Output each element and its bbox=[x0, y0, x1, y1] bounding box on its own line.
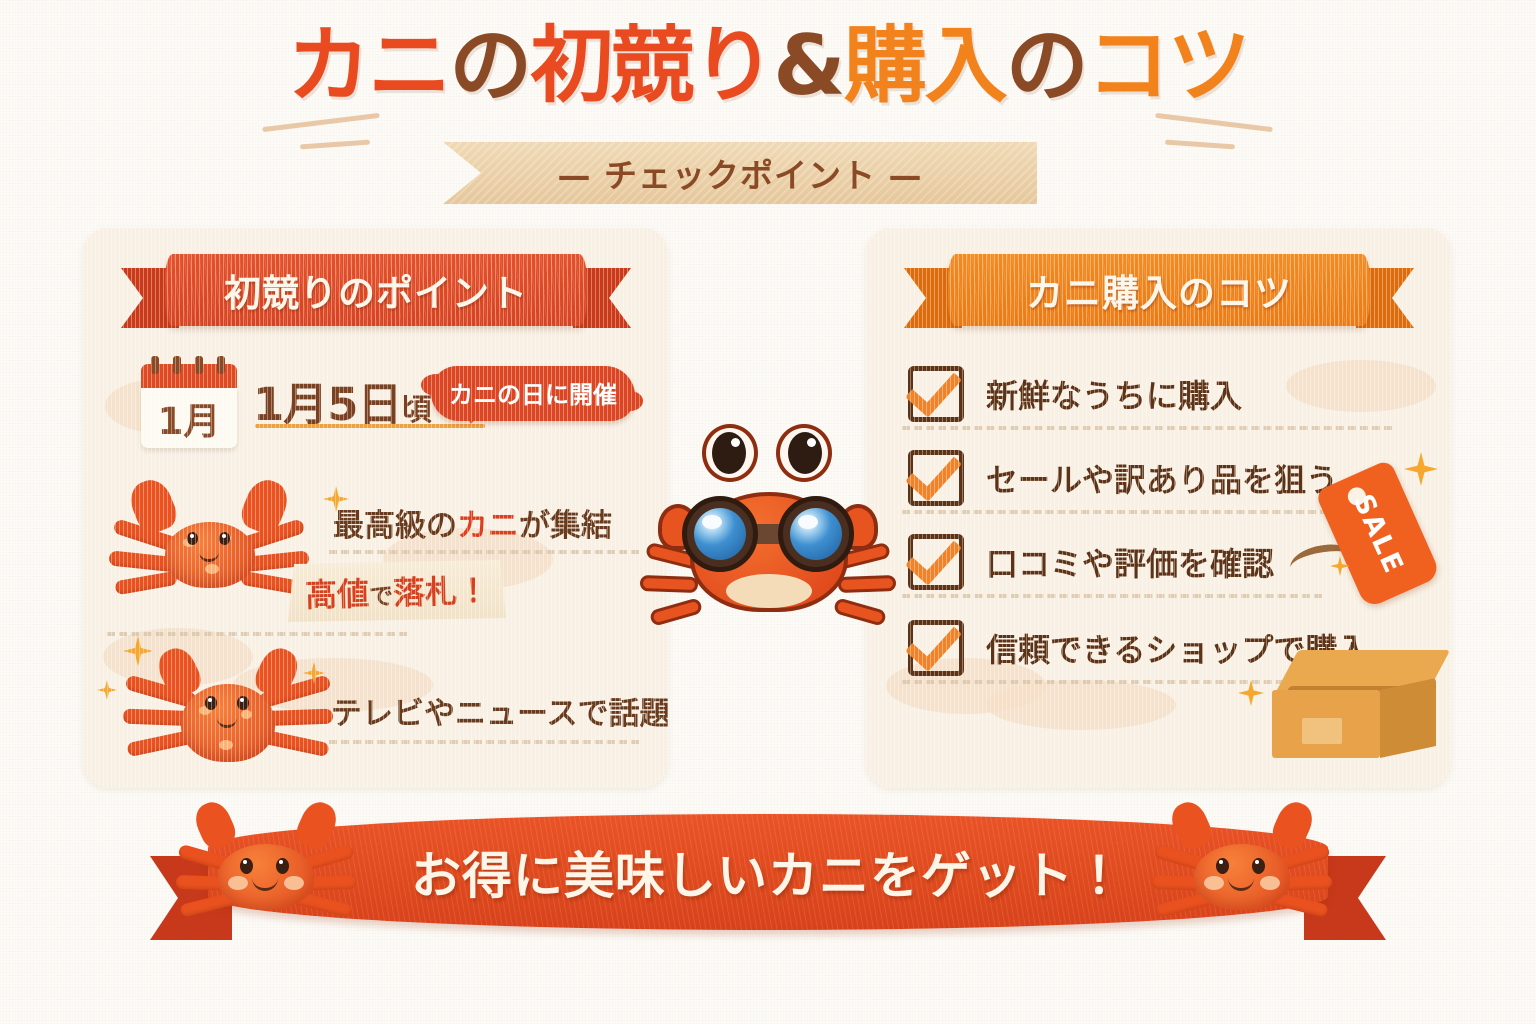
mascot-pupil bbox=[788, 432, 822, 474]
infographic-root: カニの初競り&購入のコツ — チェックポイント — 初競りのポイント bbox=[0, 0, 1536, 1024]
checkbox-checked-icon[interactable] bbox=[908, 366, 964, 422]
high-price-main: 高値 bbox=[305, 575, 370, 615]
title-part-7: コツ bbox=[1087, 17, 1249, 114]
cloud-decor bbox=[1286, 360, 1436, 412]
banner-crab-right bbox=[1152, 800, 1332, 928]
mascot-leg bbox=[838, 575, 897, 593]
left-row-1-text: 最高級のカニが集結 bbox=[333, 500, 612, 545]
speech-bubble-text: カニの日に開催 bbox=[449, 381, 617, 409]
mascot-pupil bbox=[712, 432, 746, 474]
left-row-1-part-1: 最高級の bbox=[333, 508, 457, 544]
left-panel-header-text: 初競りのポイント bbox=[224, 263, 528, 317]
high-price-end: 落札！ bbox=[393, 572, 490, 613]
checklist-divider bbox=[902, 426, 1392, 430]
checklist-divider bbox=[902, 594, 1322, 598]
checklist-item-2[interactable]: セールや訳あり品を狙う bbox=[908, 450, 1338, 506]
row-divider bbox=[329, 550, 639, 554]
subtitle-text: — チェックポイント — bbox=[558, 149, 923, 197]
subtitle-ribbon: — チェックポイント — bbox=[443, 142, 1037, 204]
title-part-1: カニ bbox=[287, 17, 449, 114]
checklist-item-3-label: 口コミや評価を確認 bbox=[986, 539, 1274, 585]
title-part-3: 初競り bbox=[530, 17, 773, 114]
title-part-5: 購入 bbox=[844, 17, 1006, 114]
right-panel-header-ribbon: カニ購入のコツ bbox=[904, 254, 1414, 326]
crab-mascot-with-binoculars bbox=[632, 418, 904, 686]
left-row-3-label: テレビやニュースで話題 bbox=[331, 696, 668, 732]
calendar-ring bbox=[173, 356, 181, 374]
left-panel: 初競りのポイント 1月 1月5日頃 カニの日に開催 bbox=[83, 228, 668, 788]
mascot-leg bbox=[649, 597, 703, 627]
left-row-1-highlight: カニ bbox=[457, 508, 519, 544]
cloud-decor bbox=[986, 680, 1176, 730]
checkbox-checked-icon[interactable] bbox=[908, 534, 964, 590]
snow-crab-icon bbox=[109, 476, 309, 606]
high-price-mid: で bbox=[369, 582, 394, 611]
mascot-eye-stalk-left bbox=[702, 424, 758, 482]
sale-tag-label: SALE bbox=[1347, 489, 1409, 578]
title-part-6: の bbox=[1006, 17, 1087, 114]
checkbox-checked-icon[interactable] bbox=[908, 620, 964, 676]
event-date-suffix: 頃 bbox=[402, 393, 431, 428]
page-title: カニの初競り&購入のコツ bbox=[0, 24, 1536, 107]
row-divider bbox=[329, 740, 639, 744]
speech-bubble: カニの日に開催 bbox=[431, 366, 635, 421]
king-crab-icon bbox=[123, 648, 333, 778]
calendar-ring bbox=[151, 356, 159, 374]
banner-crab-left bbox=[176, 800, 356, 928]
high-price-text: 高値で落札！ bbox=[304, 566, 489, 617]
left-row-3-text: テレビやニュースで話題 bbox=[331, 688, 668, 733]
ribbon-band: 初競りのポイント bbox=[165, 254, 587, 326]
checklist-divider bbox=[902, 680, 1332, 684]
calendar-ring bbox=[217, 356, 225, 374]
ribbon-band: カニ購入のコツ bbox=[948, 254, 1370, 326]
row-divider bbox=[107, 632, 407, 636]
mascot-belly bbox=[726, 574, 812, 608]
calendar-month-label: 1月 bbox=[141, 388, 237, 448]
mascot-eye-stalk-right bbox=[776, 424, 832, 482]
right-panel-header-text: カニ購入のコツ bbox=[1026, 263, 1292, 317]
checklist-item-1[interactable]: 新鮮なうちに購入 bbox=[908, 366, 1242, 422]
left-panel-header-ribbon: 初競りのポイント bbox=[121, 254, 631, 326]
mascot-leg bbox=[640, 575, 699, 593]
bottom-banner-text: お得に美味しいカニをゲット！ bbox=[411, 836, 1125, 908]
checklist-item-1-label: 新鮮なうちに購入 bbox=[986, 371, 1242, 417]
binoculars-lens-right bbox=[778, 496, 854, 572]
checkbox-checked-icon[interactable] bbox=[908, 450, 964, 506]
title-part-2: の bbox=[449, 17, 530, 114]
left-row-1-part-2: が集結 bbox=[519, 508, 612, 544]
high-price-tag: 高値で落札！ bbox=[288, 560, 506, 622]
calendar-icon: 1月 bbox=[141, 356, 237, 448]
title-part-4: & bbox=[773, 17, 843, 114]
checklist-item-2-label: セールや訳あり品を狙う bbox=[986, 455, 1338, 501]
box-side bbox=[1380, 678, 1436, 758]
checklist-item-3[interactable]: 口コミや評価を確認 bbox=[908, 534, 1274, 590]
cardboard-box-icon bbox=[1272, 650, 1442, 758]
sparkle-icon bbox=[97, 680, 117, 700]
gavel-head bbox=[568, 786, 668, 788]
mascot-leg bbox=[833, 597, 887, 627]
checklist-divider bbox=[902, 510, 1352, 514]
binoculars-lens-left bbox=[682, 496, 758, 572]
event-date-underline bbox=[255, 424, 485, 428]
box-tape-label bbox=[1302, 718, 1342, 744]
calendar-ring bbox=[195, 356, 203, 374]
